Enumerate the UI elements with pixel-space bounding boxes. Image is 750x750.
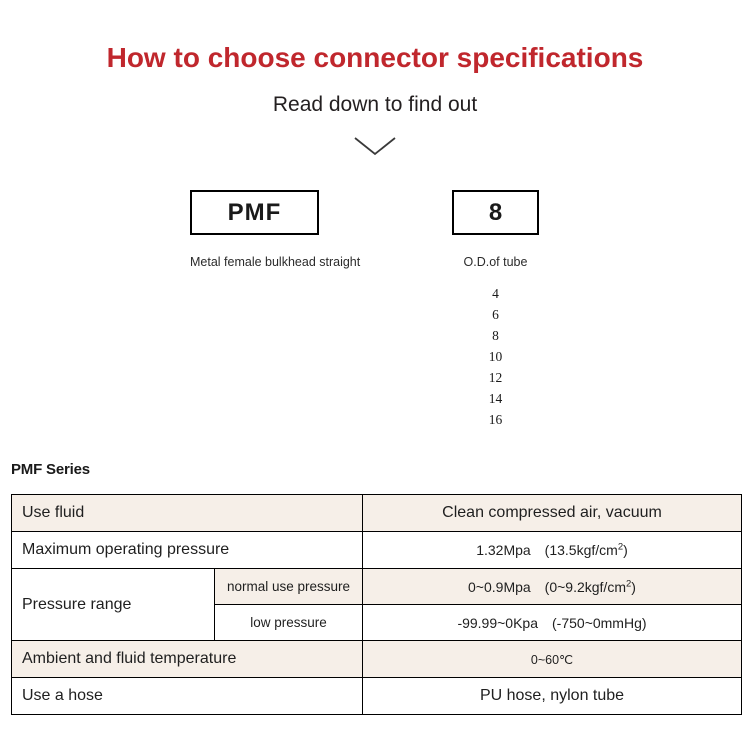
table-row: Maximum operating pressure 1.32Mpa (13.5… bbox=[12, 532, 742, 569]
table-cell-sublabel: low pressure bbox=[215, 605, 363, 641]
chevron-down-container bbox=[0, 136, 750, 164]
table-cell-sublabel: normal use pressure bbox=[215, 569, 363, 605]
table-cell-label: Use fluid bbox=[12, 495, 363, 532]
page-title: How to choose connector specifications bbox=[0, 41, 750, 75]
list-item: 4 bbox=[452, 283, 539, 304]
size-option-list: 4 6 8 10 12 14 16 bbox=[452, 283, 539, 430]
page-subtitle: Read down to find out bbox=[0, 91, 750, 118]
table-cell-label: Maximum operating pressure bbox=[12, 532, 363, 569]
table-cell-value: Clean compressed air, vacuum bbox=[363, 495, 742, 532]
table-row: Use a hose PU hose, nylon tube bbox=[12, 678, 742, 715]
list-item: 12 bbox=[452, 367, 539, 388]
table-cell-label: Pressure range bbox=[12, 569, 215, 641]
size-code-box: 8 bbox=[452, 190, 539, 235]
table-cell-value: 0~60℃ bbox=[363, 641, 742, 678]
specification-table: Use fluid Clean compressed air, vacuum M… bbox=[11, 494, 742, 715]
table-cell-label: Use a hose bbox=[12, 678, 363, 715]
list-item: 6 bbox=[452, 304, 539, 325]
table-cell-value: -99.99~0Kpa (-750~0mmHg) bbox=[363, 605, 742, 641]
series-code-box: PMF bbox=[190, 190, 319, 235]
value-tail: ) bbox=[623, 542, 628, 558]
list-item: 10 bbox=[452, 346, 539, 367]
table-cell-label: Ambient and fluid temperature bbox=[12, 641, 363, 678]
table-cell-value: 0~0.9Mpa (0~9.2kgf/cm2) bbox=[363, 569, 742, 605]
list-item: 8 bbox=[452, 325, 539, 346]
table-row: Ambient and fluid temperature 0~60℃ bbox=[12, 641, 742, 678]
list-item: 16 bbox=[452, 409, 539, 430]
table-cell-value: 1.32Mpa (13.5kgf/cm2) bbox=[363, 532, 742, 569]
code-breakdown-row: PMF 8 bbox=[0, 190, 750, 238]
value-tail: ) bbox=[631, 579, 636, 595]
series-code-caption: Metal female bulkhead straight bbox=[190, 254, 319, 270]
value-main: 1.32Mpa (13.5kgf/cm bbox=[476, 542, 618, 558]
table-row: Pressure range normal use pressure 0~0.9… bbox=[12, 569, 742, 605]
size-code-caption: O.D.of tube bbox=[452, 254, 539, 270]
value-main: 0~0.9Mpa (0~9.2kgf/cm bbox=[468, 579, 626, 595]
list-item: 14 bbox=[452, 388, 539, 409]
chevron-down-icon bbox=[353, 136, 397, 158]
table-cell-value: PU hose, nylon tube bbox=[363, 678, 742, 715]
spec-table-heading: PMF Series bbox=[11, 461, 90, 478]
table-row: Use fluid Clean compressed air, vacuum bbox=[12, 495, 742, 532]
